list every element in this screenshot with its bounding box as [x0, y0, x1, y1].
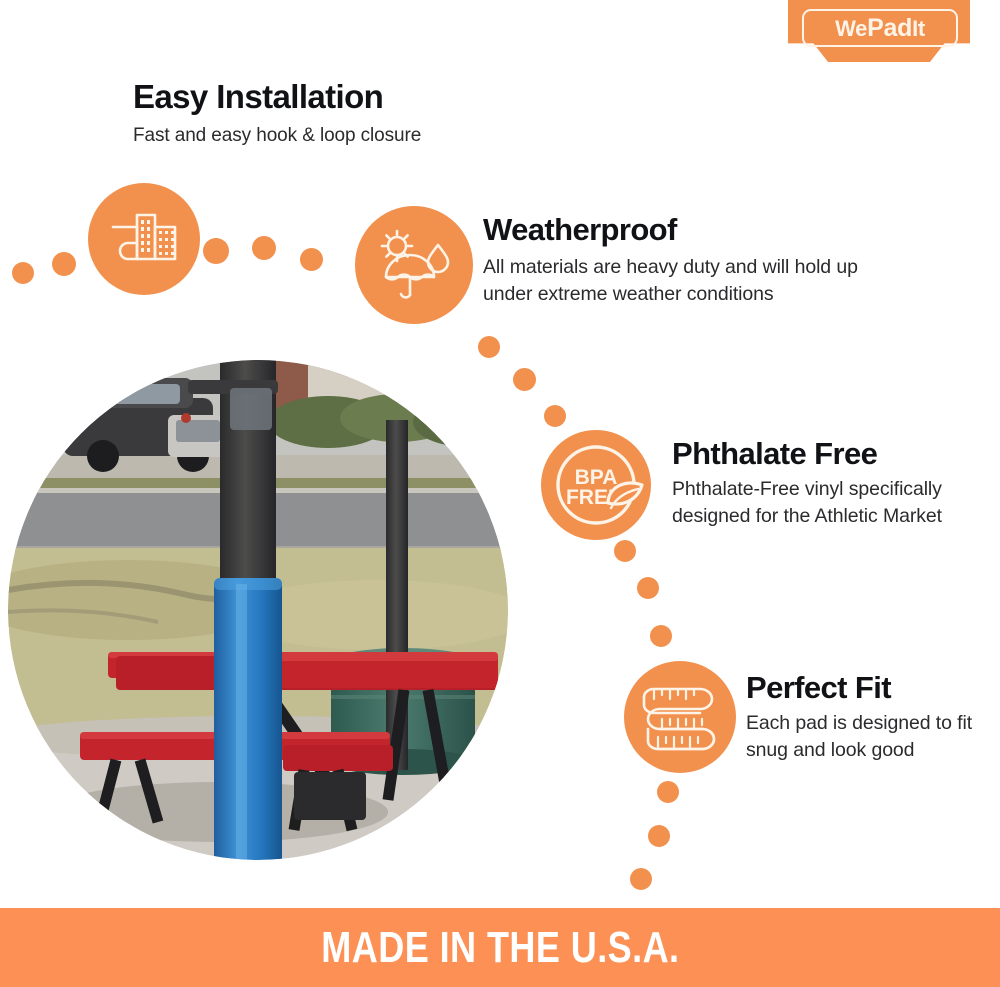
sun-umbrella-raindrop-icon	[368, 219, 460, 311]
trail-dot	[52, 252, 76, 276]
trail-dot	[650, 625, 672, 647]
trail-dot	[12, 262, 34, 284]
feature-block-phthalate-free: Phthalate Free Phthalate-Free vinyl spec…	[672, 436, 972, 530]
product-photo	[8, 360, 508, 860]
icon-circle-easy-installation	[88, 183, 200, 295]
trail-dot	[637, 577, 659, 599]
made-in-usa-text: MADE IN THE U.S.A.	[321, 923, 679, 973]
feature-title-perfect-fit: Perfect Fit	[746, 670, 986, 706]
logo-text-we: We	[835, 16, 867, 41]
trail-dot	[544, 405, 566, 427]
icon-circle-perfect-fit	[624, 661, 736, 773]
feature-description-phthalate-free: Phthalate-Free vinyl specifically design…	[672, 476, 972, 530]
feature-block-easy-installation: Easy Installation Fast and easy hook & l…	[133, 78, 563, 148]
infographic-canvas: WePadIt Easy Installation Fast and easy …	[0, 0, 1000, 987]
trail-dot	[648, 825, 670, 847]
feature-block-weatherproof: Weatherproof All materials are heavy dut…	[483, 212, 903, 308]
logo-text: WePadIt	[835, 16, 925, 41]
feature-title-easy-installation: Easy Installation	[133, 78, 563, 116]
brand-logo: WePadIt	[788, 0, 970, 62]
trail-dot	[478, 336, 500, 358]
feature-title-weatherproof: Weatherproof	[483, 212, 903, 248]
made-in-usa-banner: MADE IN THE U.S.A.	[0, 908, 1000, 987]
trail-dot	[203, 238, 229, 264]
feature-title-phthalate-free: Phthalate Free	[672, 436, 972, 472]
pad-hook-loop-icon	[103, 198, 185, 280]
trail-dot	[300, 248, 323, 271]
feature-description-perfect-fit: Each pad is designed to fit snug and loo…	[746, 710, 986, 764]
icon-circle-phthalate-free: BPA FREE	[541, 430, 651, 540]
trail-dot	[513, 368, 536, 391]
bpa-free-leaf-icon: BPA FREE	[544, 433, 648, 537]
logo-text-it: It	[912, 16, 925, 41]
trail-dot	[657, 781, 679, 803]
logo-outline-box: WePadIt	[802, 9, 958, 47]
measuring-tape-icon	[632, 669, 728, 765]
product-photo-illustration	[8, 360, 508, 860]
trail-dot	[614, 540, 636, 562]
logo-text-pad: Pad	[867, 14, 912, 42]
feature-description-easy-installation: Fast and easy hook & loop closure	[133, 124, 563, 148]
trail-dot	[252, 236, 276, 260]
feature-block-perfect-fit: Perfect Fit Each pad is designed to fit …	[746, 670, 986, 764]
feature-description-weatherproof: All materials are heavy duty and will ho…	[483, 254, 903, 308]
trail-dot	[630, 868, 652, 890]
icon-circle-weatherproof	[355, 206, 473, 324]
